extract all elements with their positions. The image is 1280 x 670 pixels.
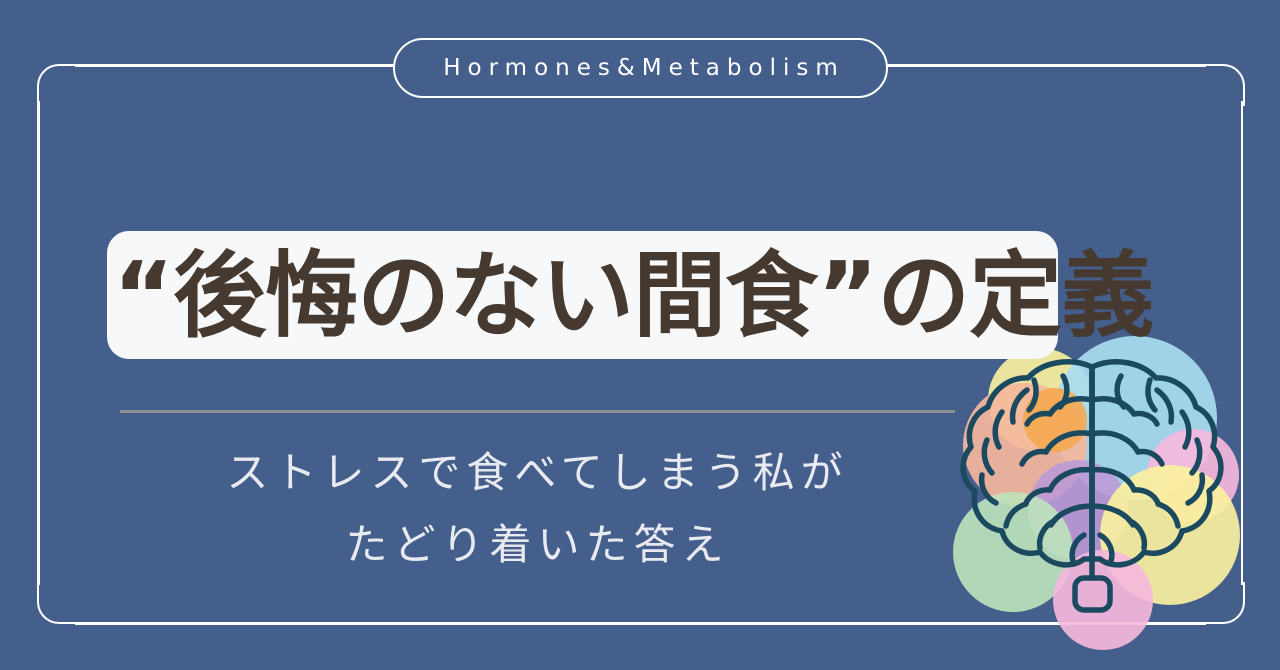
frame-corner-bottom-left (37, 582, 79, 624)
category-badge-label: Hormones&Metabolism (436, 55, 845, 81)
category-badge: Hormones&Metabolism (393, 38, 888, 98)
subtitle-line-2: たどり着いた答え (100, 509, 975, 581)
brain-illustration (930, 330, 1280, 670)
subtitle: ストレスで食べてしまう私が たどり着いた答え (100, 437, 975, 581)
frame-corner-top-right (1203, 64, 1245, 106)
slide-canvas: Hormones&Metabolism (0, 0, 1280, 670)
frame-line-top-left (75, 64, 395, 67)
divider (120, 410, 955, 413)
frame-corner-top-left (37, 64, 79, 106)
frame-line-top-right (886, 64, 1206, 67)
frame-line-left (37, 101, 40, 585)
page-title: “後悔のない間食”の定義 (113, 240, 1073, 352)
subtitle-line-1: ストレスで食べてしまう私が (100, 437, 975, 509)
brain-illustration-svg (930, 330, 1280, 670)
